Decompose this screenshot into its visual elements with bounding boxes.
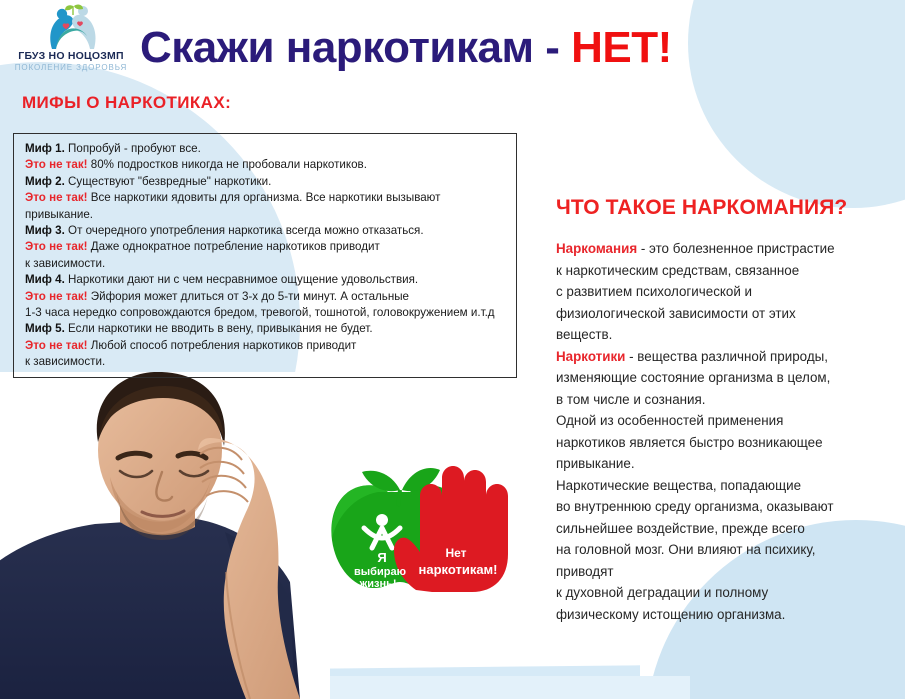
addiction-text: физиологической зависимости от этих [556, 306, 796, 321]
addiction-text-line: Наркомания - это болезненное пристрастие [556, 238, 901, 260]
addiction-text-line: Наркотические вещества, попадающие [556, 475, 901, 497]
addiction-text: Наркотические вещества, попадающие [556, 478, 801, 493]
myth-line: Миф 1. Попробуй - пробуют все. [25, 141, 506, 157]
myth-line: Миф 3. От очередного употребления наркот… [25, 223, 506, 239]
addiction-text: физическому истощению организма. [556, 607, 785, 622]
addiction-term: Наркомания [556, 241, 637, 256]
addiction-text: с развитием психологической и [556, 284, 752, 299]
addiction-text: - вещества различной природы, [625, 349, 828, 364]
myth-text: Даже однократное потребление наркотиков … [88, 240, 380, 253]
addiction-text: Одной из особенностей применения [556, 413, 783, 428]
addiction-text-line: на головной мозг. Они влияют на психику, [556, 539, 901, 561]
addiction-text-line: изменяющие состояние организма в целом, [556, 367, 901, 389]
organization-logo: ГБУЗ НО НОЦОЗМП ПОКОЛЕНИЕ ЗДОРОВЬЯ [12, 2, 130, 76]
myth-line: Это не так! Любой способ потребления нар… [25, 338, 506, 354]
myth-text: Любой способ потребления наркотиков прив… [88, 339, 357, 352]
addiction-text-line: приводят [556, 561, 901, 583]
addiction-text: во внутреннюю среду организма, оказывают [556, 499, 833, 514]
addiction-text: на головной мозг. Они влияют на психику, [556, 542, 815, 557]
addiction-text: приводят [556, 564, 614, 579]
addiction-text: - это болезненное пристрастие [637, 241, 834, 256]
addiction-text: наркотиков является быстро возникающее [556, 435, 823, 450]
addiction-text-line: в том числе и сознания. [556, 389, 901, 411]
addiction-text-line: наркотиков является быстро возникающее [556, 432, 901, 454]
organization-name: ГБУЗ НО НОЦОЗМП [12, 50, 130, 62]
myth-text: Все наркотики ядовиты для организма. Все… [88, 191, 441, 204]
myth-line: Это не так! Даже однократное потребление… [25, 239, 506, 255]
addiction-text: сильнейшее воздействие, прежде всего [556, 521, 805, 536]
what-is-addiction-heading: ЧТО ТАКОЕ НАРКОМАНИЯ? [556, 196, 847, 220]
myth-rebuttal-label: Это не так! [25, 158, 88, 171]
choose-life-emblem: Я выбираю жизнь! Нет наркотикам! [322, 462, 530, 592]
myth-number-label: Миф 3. [25, 224, 65, 237]
emblem-hand-line1: Нет [445, 546, 466, 560]
emblem-apple-line2: выбираю [354, 566, 406, 578]
addiction-text-line: к духовной деградации и полному [556, 582, 901, 604]
addiction-text: привыкание. [556, 456, 635, 471]
myth-text: к зависимости. [25, 257, 105, 270]
myth-line: Это не так! Все наркотики ядовиты для ор… [25, 190, 506, 206]
myth-line: к зависимости. [25, 354, 506, 370]
myth-line: Миф 5. Если наркотики не вводить в вену,… [25, 321, 506, 337]
addiction-text: к духовной деградации и полному [556, 585, 768, 600]
page-title: Скажи наркотикам - НЕТ! [140, 20, 840, 76]
addiction-text-line: Наркотики - вещества различной природы, [556, 346, 901, 368]
addiction-term: Наркотики [556, 349, 625, 364]
myth-rebuttal-label: Это не так! [25, 290, 88, 303]
emblem-apple-line1: Я [377, 550, 386, 565]
myth-text: Наркотики дают ни с чем несравнимое ощущ… [65, 273, 418, 286]
myth-number-label: Миф 5. [25, 322, 65, 335]
myth-rebuttal-label: Это не так! [25, 240, 88, 253]
addiction-text-line: с развитием психологической и [556, 281, 901, 303]
myth-line: 1-3 часа нередко сопровождаются бредом, … [25, 305, 506, 321]
myth-text: Существуют "безвредные" наркотики. [65, 175, 272, 188]
myth-rebuttal-label: Это не так! [25, 339, 88, 352]
myth-line: Миф 4. Наркотики дают ни с чем несравним… [25, 272, 506, 288]
organization-tagline: ПОКОЛЕНИЕ ЗДОРОВЬЯ [12, 63, 130, 72]
myth-line: Миф 2. Существуют "безвредные" наркотики… [25, 174, 506, 190]
myth-text: к зависимости. [25, 355, 105, 368]
background-bottom-band-light [330, 676, 690, 699]
myth-text: 80% подростков никогда не пробовали нарк… [88, 158, 367, 171]
myth-line: к зависимости. [25, 256, 506, 272]
addiction-text-line: физиологической зависимости от этих [556, 303, 901, 325]
addiction-text-line: привыкание. [556, 453, 901, 475]
people-health-logo-icon [42, 2, 104, 50]
what-is-addiction-body: Наркомания - это болезненное пристрастие… [556, 238, 901, 625]
addiction-text: изменяющие состояние организма в целом, [556, 370, 830, 385]
addiction-text-line: Одной из особенностей применения [556, 410, 901, 432]
addiction-text-line: веществ. [556, 324, 901, 346]
addiction-text-line: сильнейшее воздействие, прежде всего [556, 518, 901, 540]
emblem-apple-line3: жизнь! [358, 578, 396, 590]
myths-list-box: Миф 1. Попробуй - пробуют все.Это не так… [13, 133, 517, 378]
addiction-text-line: к наркотическим средствам, связанное [556, 260, 901, 282]
poster-header: ГБУЗ НО НОЦОЗМП ПОКОЛЕНИЕ ЗДОРОВЬЯ Скажи… [0, 0, 905, 86]
myth-number-label: Миф 2. [25, 175, 65, 188]
emblem-hand-line2: наркотикам! [418, 562, 497, 577]
addiction-text: к наркотическим средствам, связанное [556, 263, 799, 278]
myth-line: Это не так! Эйфория может длиться от 3-х… [25, 289, 506, 305]
myth-text: привыкание. [25, 208, 93, 221]
myth-text: Попробуй - пробуют все. [65, 142, 201, 155]
myth-number-label: Миф 4. [25, 273, 65, 286]
addiction-text-line: во внутреннюю среду организма, оказывают [556, 496, 901, 518]
myth-rebuttal-label: Это не так! [25, 191, 88, 204]
myth-text: Если наркотики не вводить в вену, привык… [65, 322, 373, 335]
addiction-text-line: физическому истощению организма. [556, 604, 901, 626]
myth-line: привыкание. [25, 207, 506, 223]
myth-text: Эйфория может длиться от 3-х до 5-ти мин… [88, 290, 409, 303]
myth-text: От очередного употребления наркотика все… [65, 224, 424, 237]
addiction-text: в том числе и сознания. [556, 392, 706, 407]
myth-number-label: Миф 1. [25, 142, 65, 155]
addiction-text: веществ. [556, 327, 612, 342]
page-title-accent: НЕТ! [571, 23, 672, 72]
myth-text: 1-3 часа нередко сопровождаются бредом, … [25, 306, 495, 319]
myths-section-heading: МИФЫ О НАРКОТИКАХ: [22, 93, 231, 113]
page-title-main: Скажи наркотикам - [140, 23, 571, 72]
poster-canvas: ГБУЗ НО НОЦОЗМП ПОКОЛЕНИЕ ЗДОРОВЬЯ Скажи… [0, 0, 905, 699]
man-holding-head-photo [0, 372, 330, 699]
myth-line: Это не так! 80% подростков никогда не пр… [25, 157, 506, 173]
